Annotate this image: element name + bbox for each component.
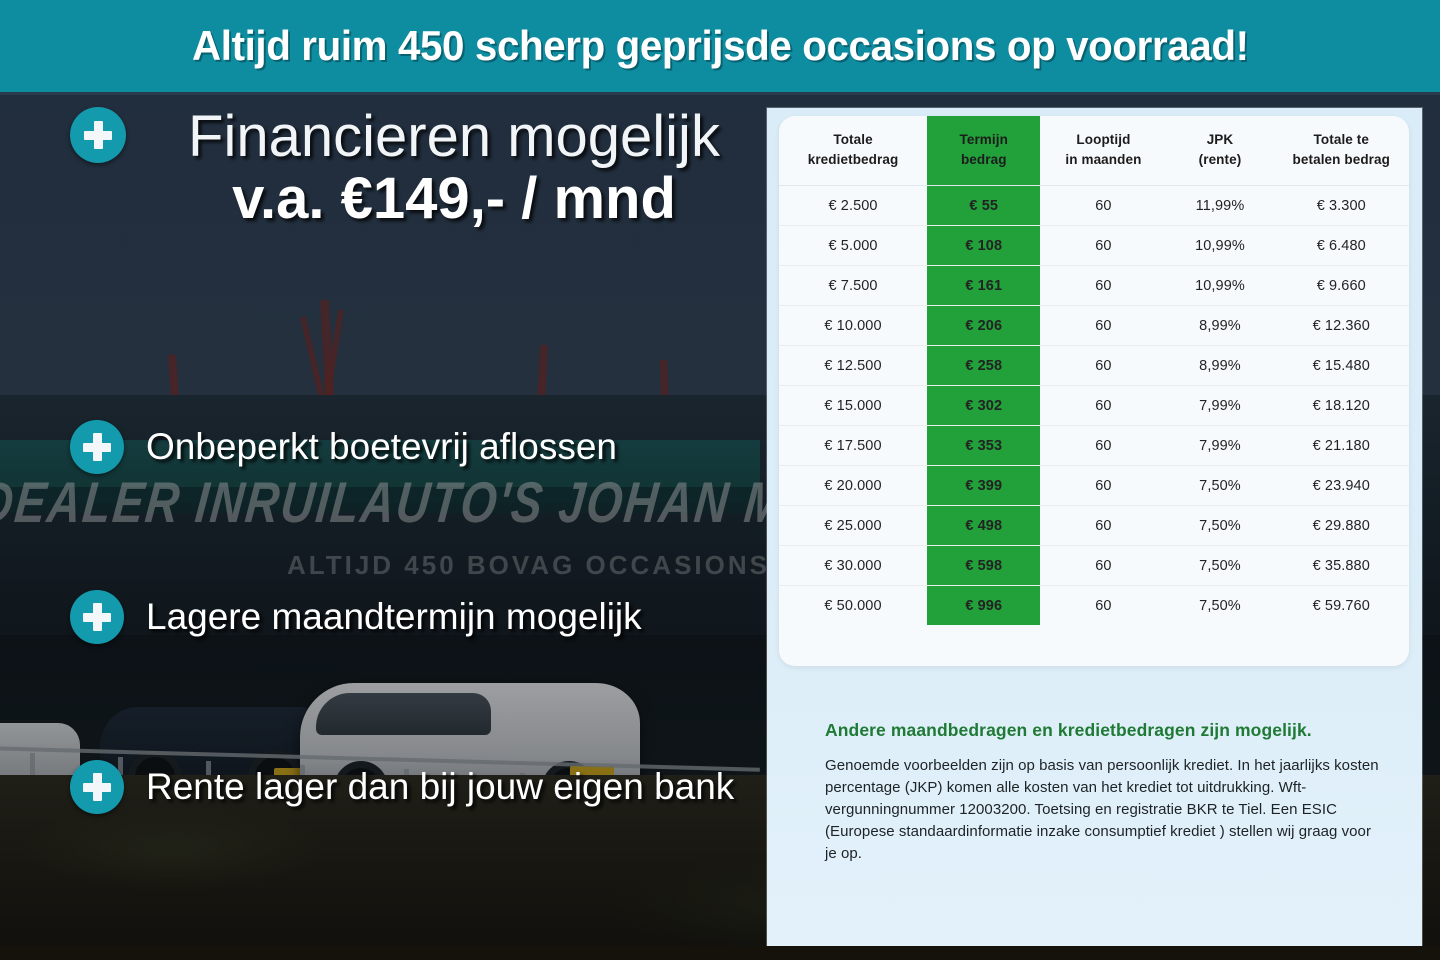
plus-icon — [70, 760, 124, 814]
cell-interest: 8,99% — [1166, 346, 1273, 386]
cell-interest: 7,99% — [1166, 426, 1273, 466]
hero-headline-line1: Financieren mogelijk — [148, 107, 760, 167]
rate-table: Totale kredietbedrag Termijn bedrag Loop… — [779, 116, 1409, 625]
cell-total-payable: € 29.880 — [1274, 506, 1409, 546]
cell-total-credit: € 15.000 — [779, 386, 927, 426]
cell-total-payable: € 12.360 — [1274, 306, 1409, 346]
cell-total-credit: € 50.000 — [779, 586, 927, 626]
table-row: € 25.000€ 498607,50%€ 29.880 — [779, 506, 1409, 546]
hero-headline-block: Financieren mogelijk v.a. €149,- / mnd — [70, 107, 760, 232]
cell-monthly-amount: € 302 — [927, 386, 1040, 426]
cell-duration: 60 — [1040, 186, 1166, 226]
cell-total-payable: € 21.180 — [1274, 426, 1409, 466]
cell-total-credit: € 30.000 — [779, 546, 927, 586]
cell-monthly-amount: € 161 — [927, 266, 1040, 306]
cell-interest: 11,99% — [1166, 186, 1273, 226]
cell-total-payable: € 6.480 — [1274, 226, 1409, 266]
panel-notes: Andere maandbedragen en kredietbedragen … — [825, 720, 1385, 865]
benefit-label: Lagere maandtermijn mogelijk — [146, 596, 642, 638]
table-row: € 10.000€ 206608,99%€ 12.360 — [779, 306, 1409, 346]
cell-monthly-amount: € 353 — [927, 426, 1040, 466]
cell-monthly-amount: € 399 — [927, 466, 1040, 506]
table-row: € 2.500€ 556011,99%€ 3.300 — [779, 186, 1409, 226]
benefit-item-0: Onbeperkt boetevrij aflossen — [70, 420, 617, 474]
cell-total-payable: € 3.300 — [1274, 186, 1409, 226]
table-row: € 7.500€ 1616010,99%€ 9.660 — [779, 266, 1409, 306]
cell-duration: 60 — [1040, 546, 1166, 586]
cell-duration: 60 — [1040, 466, 1166, 506]
cell-interest: 7,99% — [1166, 386, 1273, 426]
cell-total-credit: € 12.500 — [779, 346, 927, 386]
cell-duration: 60 — [1040, 346, 1166, 386]
rate-table-body: € 2.500€ 556011,99%€ 3.300€ 5.000€ 10860… — [779, 186, 1409, 626]
cell-monthly-amount: € 498 — [927, 506, 1040, 546]
rate-table-card: Totale kredietbedrag Termijn bedrag Loop… — [779, 116, 1409, 666]
cell-total-credit: € 20.000 — [779, 466, 927, 506]
cell-interest: 10,99% — [1166, 226, 1273, 266]
plus-icon — [70, 107, 126, 163]
cell-duration: 60 — [1040, 426, 1166, 466]
table-header-row: Totale kredietbedrag Termijn bedrag Loop… — [779, 116, 1409, 186]
column-header-interest: JPK (rente) — [1166, 116, 1273, 186]
cell-duration: 60 — [1040, 266, 1166, 306]
table-row: € 12.500€ 258608,99%€ 15.480 — [779, 346, 1409, 386]
banner-headline: Altijd ruim 450 scherp geprijsde occasio… — [192, 22, 1249, 70]
cell-duration: 60 — [1040, 306, 1166, 346]
cell-duration: 60 — [1040, 226, 1166, 266]
cell-total-payable: € 18.120 — [1274, 386, 1409, 426]
cell-monthly-amount: € 55 — [927, 186, 1040, 226]
notes-title: Andere maandbedragen en kredietbedragen … — [825, 720, 1385, 741]
cell-monthly-amount: € 598 — [927, 546, 1040, 586]
cell-monthly-amount: € 206 — [927, 306, 1040, 346]
table-row: € 15.000€ 302607,99%€ 18.120 — [779, 386, 1409, 426]
cell-total-payable: € 23.940 — [1274, 466, 1409, 506]
cell-interest: 7,50% — [1166, 546, 1273, 586]
benefit-item-2: Rente lager dan bij jouw eigen bank — [70, 760, 734, 814]
table-row: € 20.000€ 399607,50%€ 23.940 — [779, 466, 1409, 506]
cell-interest: 7,50% — [1166, 586, 1273, 626]
cell-duration: 60 — [1040, 586, 1166, 626]
cell-duration: 60 — [1040, 386, 1166, 426]
cell-interest: 8,99% — [1166, 306, 1273, 346]
cell-monthly-amount: € 108 — [927, 226, 1040, 266]
benefit-label: Rente lager dan bij jouw eigen bank — [146, 766, 734, 808]
left-content: Financieren mogelijk v.a. €149,- / mnd O… — [0, 95, 760, 960]
cell-total-credit: € 7.500 — [779, 266, 927, 306]
cell-total-credit: € 2.500 — [779, 186, 927, 226]
plus-icon — [70, 420, 124, 474]
hero-headline-line2: v.a. €149,- / mnd — [148, 167, 760, 232]
benefit-label: Onbeperkt boetevrij aflossen — [146, 426, 617, 468]
table-row: € 17.500€ 353607,99%€ 21.180 — [779, 426, 1409, 466]
column-header-monthly-amount: Termijn bedrag — [927, 116, 1040, 186]
notes-body: Genoemde voorbeelden zijn op basis van p… — [825, 755, 1385, 865]
cell-interest: 10,99% — [1166, 266, 1273, 306]
cell-monthly-amount: € 996 — [927, 586, 1040, 626]
column-header-duration: Looptijd in maanden — [1040, 116, 1166, 186]
column-header-total-credit: Totale kredietbedrag — [779, 116, 927, 186]
bottom-edge — [0, 946, 1440, 960]
cell-monthly-amount: € 258 — [927, 346, 1040, 386]
cell-total-credit: € 25.000 — [779, 506, 927, 546]
cell-interest: 7,50% — [1166, 466, 1273, 506]
table-row: € 50.000€ 996607,50%€ 59.760 — [779, 586, 1409, 626]
cell-total-credit: € 10.000 — [779, 306, 927, 346]
table-row: € 5.000€ 1086010,99%€ 6.480 — [779, 226, 1409, 266]
cell-interest: 7,50% — [1166, 506, 1273, 546]
cell-duration: 60 — [1040, 506, 1166, 546]
cell-total-credit: € 5.000 — [779, 226, 927, 266]
plus-icon — [70, 590, 124, 644]
cell-total-payable: € 59.760 — [1274, 586, 1409, 626]
benefit-item-1: Lagere maandtermijn mogelijk — [70, 590, 642, 644]
top-banner: Altijd ruim 450 scherp geprijsde occasio… — [0, 0, 1440, 95]
table-row: € 30.000€ 598607,50%€ 35.880 — [779, 546, 1409, 586]
advertisement-banner: Altijd ruim 450 scherp geprijsde occasio… — [0, 0, 1440, 960]
financing-panel: Totale kredietbedrag Termijn bedrag Loop… — [767, 108, 1422, 946]
column-header-total-payable: Totale te betalen bedrag — [1274, 116, 1409, 186]
cell-total-payable: € 35.880 — [1274, 546, 1409, 586]
cell-total-payable: € 9.660 — [1274, 266, 1409, 306]
cell-total-credit: € 17.500 — [779, 426, 927, 466]
cell-total-payable: € 15.480 — [1274, 346, 1409, 386]
